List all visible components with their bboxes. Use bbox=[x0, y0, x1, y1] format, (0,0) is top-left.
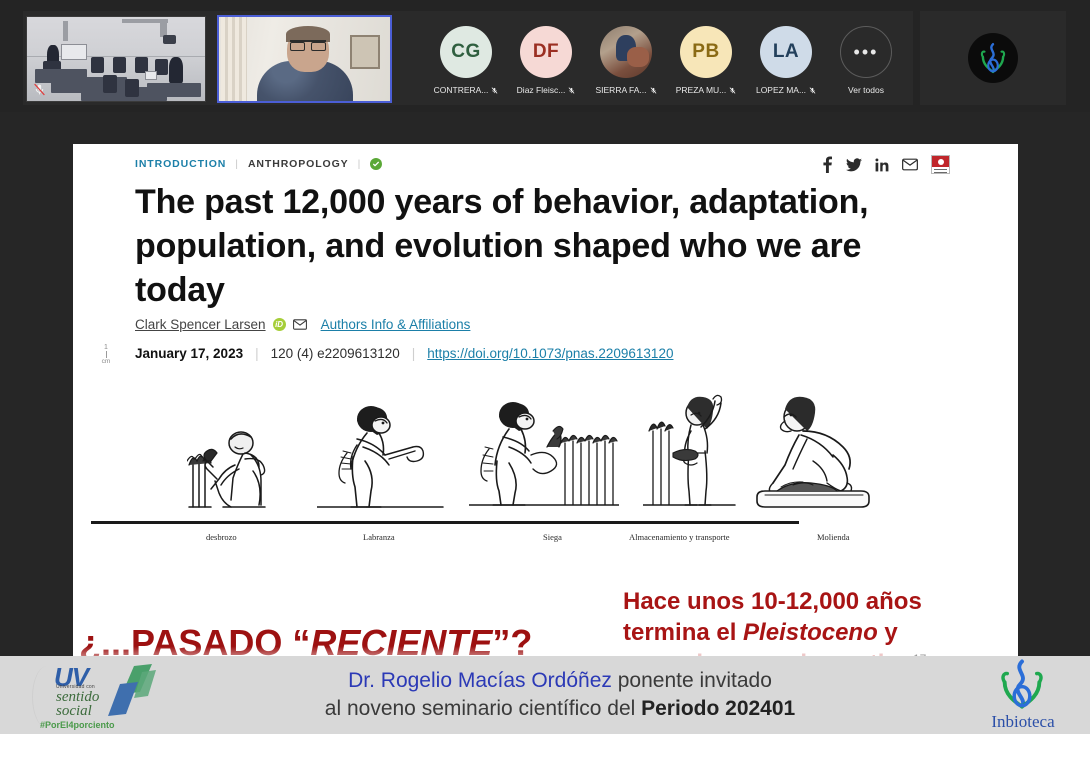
open-access-check-icon bbox=[370, 158, 382, 170]
figure-siega bbox=[469, 393, 619, 521]
avatar: LA bbox=[760, 26, 812, 78]
check-for-updates-badge[interactable] bbox=[931, 155, 950, 174]
view-all-label: Ver todos bbox=[848, 85, 884, 95]
figure-molienda bbox=[751, 391, 901, 521]
zoom-meeting-screen: CG CONTRERA... DF Diaz Flei bbox=[0, 0, 1090, 760]
participant-item[interactable]: LA LOPEZ MA... bbox=[758, 26, 814, 95]
author-name[interactable]: Clark Spencer Larsen bbox=[135, 317, 266, 332]
twitter-icon[interactable] bbox=[846, 158, 862, 172]
banner-line-2: al noveno seminario científico del Perio… bbox=[325, 697, 795, 721]
seminar-period: Periodo 202401 bbox=[641, 697, 795, 720]
volume-issue: 120 (4) e2209613120 bbox=[271, 346, 400, 361]
overlay-right-line2-b: y bbox=[878, 619, 898, 646]
caption-siega: Siega bbox=[543, 532, 562, 542]
orcid-label: iD bbox=[275, 320, 283, 329]
overlay-pleistoceno-note: Hace unos 10-12,000 años termina el Plei… bbox=[623, 586, 1018, 664]
orcid-icon[interactable]: iD bbox=[273, 318, 286, 331]
speaker-role: ponente invitado bbox=[612, 669, 772, 692]
kicker-section[interactable]: ANTHROPOLOGY bbox=[248, 158, 349, 170]
linkedin-icon[interactable] bbox=[875, 158, 889, 172]
scale-unit: cm bbox=[95, 358, 117, 365]
participant-name: Diaz Fleisc... bbox=[517, 85, 566, 95]
participant-name-row: PREZA MU... bbox=[676, 85, 737, 95]
article-meta-line: January 17, 2023 | 120 (4) e2209613120 |… bbox=[135, 346, 673, 361]
participant-name-row: Diaz Fleisc... bbox=[517, 85, 576, 95]
seminar-text: al noveno seminario científico del bbox=[325, 697, 641, 720]
article-title: The past 12,000 years of behavior, adapt… bbox=[135, 180, 895, 313]
avatar-initials: DF bbox=[533, 41, 559, 63]
classroom-scene bbox=[27, 17, 205, 101]
participant-item[interactable]: PB PREZA MU... bbox=[678, 26, 734, 95]
participant-avatar-row: CG CONTRERA... DF Diaz Flei bbox=[438, 26, 894, 95]
overlay-right-line2: termina el Pleistoceno y bbox=[623, 617, 1018, 648]
avatar-initials: PB bbox=[692, 41, 719, 63]
uv-logo: UV Universidad con sentido social #PorEl… bbox=[26, 660, 176, 734]
view-all-participants-button[interactable]: ••• Ver todos bbox=[838, 26, 894, 95]
article-author-line: Clark Spencer Larsen iD Authors Info & A… bbox=[135, 317, 470, 332]
view-all-label-row: Ver todos bbox=[848, 85, 884, 95]
caption-almacenamiento: Almacenamiento y transporte bbox=[629, 532, 730, 542]
meta-divider-1: | bbox=[255, 346, 259, 361]
avatar: PB bbox=[680, 26, 732, 78]
meta-divider-2: | bbox=[412, 346, 416, 361]
author-mail-icon[interactable] bbox=[293, 319, 307, 330]
avatar-initials: LA bbox=[773, 41, 799, 63]
participant-filmstrip: CG CONTRERA... DF Diaz Flei bbox=[0, 0, 1090, 112]
participant-name: PREZA MU... bbox=[676, 85, 727, 95]
article-kicker: INTRODUCTION | ANTHROPOLOGY | bbox=[135, 158, 382, 170]
participant-item[interactable]: DF Diaz Fleisc... bbox=[518, 26, 574, 95]
inbioteca-banner-logo: Inbioteca bbox=[970, 658, 1080, 734]
authors-info-affiliations-link[interactable]: Authors Info & Affiliations bbox=[321, 317, 471, 332]
mic-muted-icon bbox=[729, 86, 736, 95]
participant-name-row: CONTRERA... bbox=[434, 85, 499, 95]
mic-muted-icon bbox=[650, 86, 657, 95]
avatar: CG bbox=[440, 26, 492, 78]
scale-number: 1 bbox=[95, 344, 117, 351]
event-banner: UV Universidad con sentido social #PorEl… bbox=[0, 656, 1090, 734]
host-logo-tile[interactable] bbox=[920, 11, 1066, 105]
speaker-name: Dr. Rogelio Macías Ordóñez bbox=[348, 669, 612, 692]
illustration-captions: desbrozo Labranza Siega Almacenamiento y… bbox=[91, 532, 891, 548]
doi-link[interactable]: https://doi.org/10.1073/pnas.2209613120 bbox=[427, 346, 673, 361]
mic-muted-icon bbox=[809, 86, 816, 95]
participant-name: SIERRA FA... bbox=[595, 85, 646, 95]
caption-labranza: Labranza bbox=[363, 532, 395, 542]
article-social-bar bbox=[822, 155, 950, 174]
mic-muted-icon bbox=[31, 81, 47, 97]
figure-labranza bbox=[317, 395, 447, 521]
mic-muted-icon bbox=[491, 86, 498, 95]
video-thumbnail-active-speaker[interactable] bbox=[217, 15, 392, 103]
participant-item[interactable]: CG CONTRERA... bbox=[438, 26, 494, 95]
participant-name-row: SIERRA FA... bbox=[595, 85, 656, 95]
participant-item[interactable]: SIERRA FA... bbox=[598, 26, 654, 95]
kicker-introduction[interactable]: INTRODUCTION bbox=[135, 158, 226, 170]
caption-desbrozo: desbrozo bbox=[206, 532, 237, 542]
publication-date: January 17, 2023 bbox=[135, 346, 243, 361]
uv-tagline-line2: social bbox=[56, 703, 92, 720]
banner-text-block: Dr. Rogelio Macías Ordóñez ponente invit… bbox=[180, 656, 940, 734]
facebook-icon[interactable] bbox=[822, 156, 833, 173]
figure-almacenamiento bbox=[643, 391, 739, 521]
speaker-scene bbox=[219, 17, 390, 101]
avatar-initials: CG bbox=[451, 41, 481, 63]
egyptian-agriculture-illustration: desbrozo Labranza Siega Almacenamiento y… bbox=[91, 384, 891, 554]
inbioteca-name: Inbioteca bbox=[970, 712, 1076, 732]
inbioteca-logo-icon bbox=[968, 33, 1018, 83]
overlay-right-line2-a: termina el bbox=[623, 619, 743, 646]
presentation-slide[interactable]: INTRODUCTION | ANTHROPOLOGY | bbox=[73, 144, 1018, 664]
scale-marker: 1 cm bbox=[95, 344, 117, 365]
video-thumbnail-classroom[interactable] bbox=[26, 16, 206, 102]
overlay-right-line1: Hace unos 10-12,000 años bbox=[623, 586, 1018, 617]
mail-icon[interactable] bbox=[902, 158, 918, 171]
avatar: DF bbox=[520, 26, 572, 78]
ground-line bbox=[91, 521, 799, 524]
participant-name-row: LOPEZ MA... bbox=[756, 85, 816, 95]
overlay-right-pleistoceno: Pleistoceno bbox=[743, 619, 878, 646]
avatar bbox=[600, 26, 652, 78]
ellipsis-icon: ••• bbox=[840, 26, 892, 78]
participant-name: LOPEZ MA... bbox=[756, 85, 806, 95]
figure-desbrozo bbox=[187, 403, 295, 521]
caption-molienda: Molienda bbox=[817, 532, 850, 542]
kicker-separator-1: | bbox=[235, 158, 239, 170]
inbioteca-mark-icon bbox=[994, 658, 1050, 710]
participant-name: CONTRERA... bbox=[434, 85, 489, 95]
mic-muted-icon bbox=[568, 86, 575, 95]
banner-line-1: Dr. Rogelio Macías Ordóñez ponente invit… bbox=[348, 669, 772, 693]
bottom-white-strip bbox=[0, 734, 1090, 760]
uv-swoosh-icon bbox=[104, 662, 166, 724]
kicker-separator-2: | bbox=[358, 158, 362, 170]
